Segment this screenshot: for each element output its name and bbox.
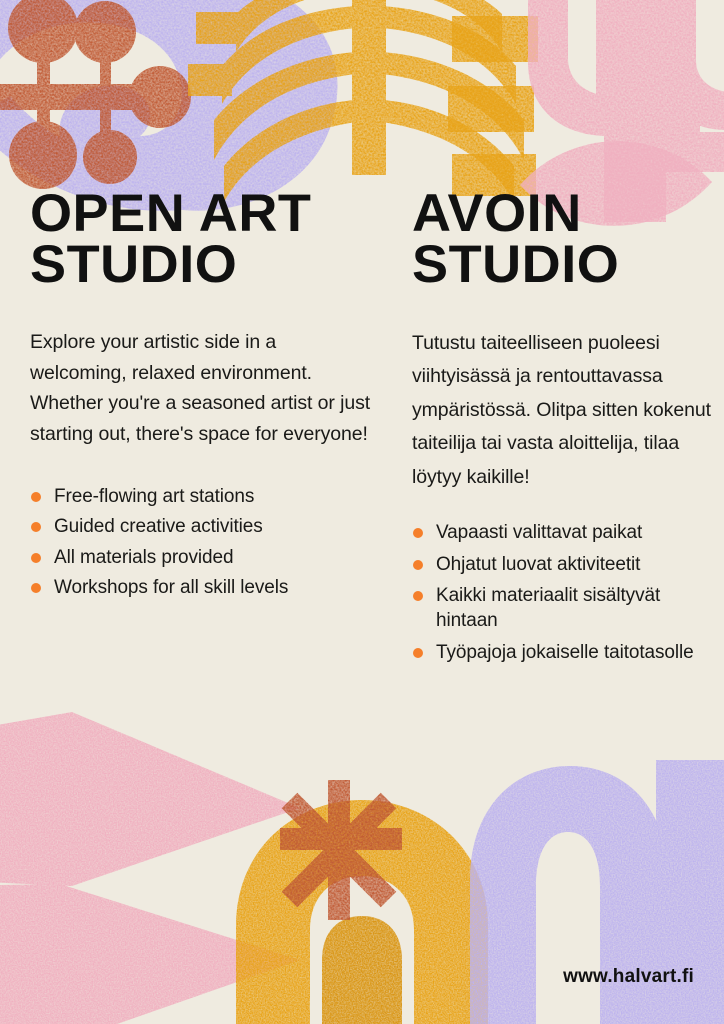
poster-canvas: OPEN ART STUDIO Explore your artistic si… — [0, 0, 724, 1024]
list-item-label: Työpajoja jokaiselle taitotasolle — [436, 642, 694, 663]
bullet-dot-icon — [31, 583, 41, 593]
list-item: Kaikki materiaalit sisältyvät hintaan — [412, 583, 712, 634]
list-item: Ohjatut luovat aktiviteetit — [412, 552, 712, 577]
list-item: Työpajoja jokaiselle taitotasolle — [412, 640, 712, 665]
title-english: OPEN ART STUDIO — [30, 188, 382, 291]
bullet-dot-icon — [413, 528, 423, 538]
bullet-list-finnish: Vapaasti valittavat paikat Ohjatut luova… — [412, 520, 712, 664]
bullet-dot-icon — [31, 522, 41, 532]
list-item-label: All materials provided — [54, 547, 233, 568]
list-item: All materials provided — [30, 545, 375, 570]
website-url[interactable]: www.halvart.fi — [563, 966, 694, 988]
bullet-list-english: Free-flowing art stations Guided creativ… — [30, 484, 375, 600]
list-item: Workshops for all skill levels — [30, 575, 375, 600]
list-item-label: Free-flowing art stations — [54, 486, 254, 507]
body-english: Explore your artistic side in a welcomin… — [30, 327, 375, 450]
column-finnish: AVOIN STUDIO Tutustu taiteelliseen puole… — [412, 188, 712, 671]
list-item: Vapaasti valittavat paikat — [412, 520, 712, 545]
bullet-dot-icon — [413, 591, 423, 601]
column-english: OPEN ART STUDIO Explore your artistic si… — [30, 188, 375, 605]
poster-content: OPEN ART STUDIO Explore your artistic si… — [0, 0, 724, 1024]
list-item-label: Kaikki materiaalit sisältyvät hintaan — [436, 585, 660, 631]
bullet-dot-icon — [31, 553, 41, 563]
list-item: Guided creative activities — [30, 514, 375, 539]
title-finnish: AVOIN STUDIO — [412, 188, 718, 291]
bullet-dot-icon — [413, 648, 423, 658]
list-item-label: Ohjatut luovat aktiviteetit — [436, 554, 640, 575]
list-item-label: Vapaasti valittavat paikat — [436, 522, 642, 543]
list-item: Free-flowing art stations — [30, 484, 375, 509]
bullet-dot-icon — [413, 560, 423, 570]
bullet-dot-icon — [31, 492, 41, 502]
list-item-label: Guided creative activities — [54, 516, 263, 537]
list-item-label: Workshops for all skill levels — [54, 577, 288, 598]
body-finnish: Tutustu taiteelliseen puoleesi viihtyisä… — [412, 327, 712, 495]
